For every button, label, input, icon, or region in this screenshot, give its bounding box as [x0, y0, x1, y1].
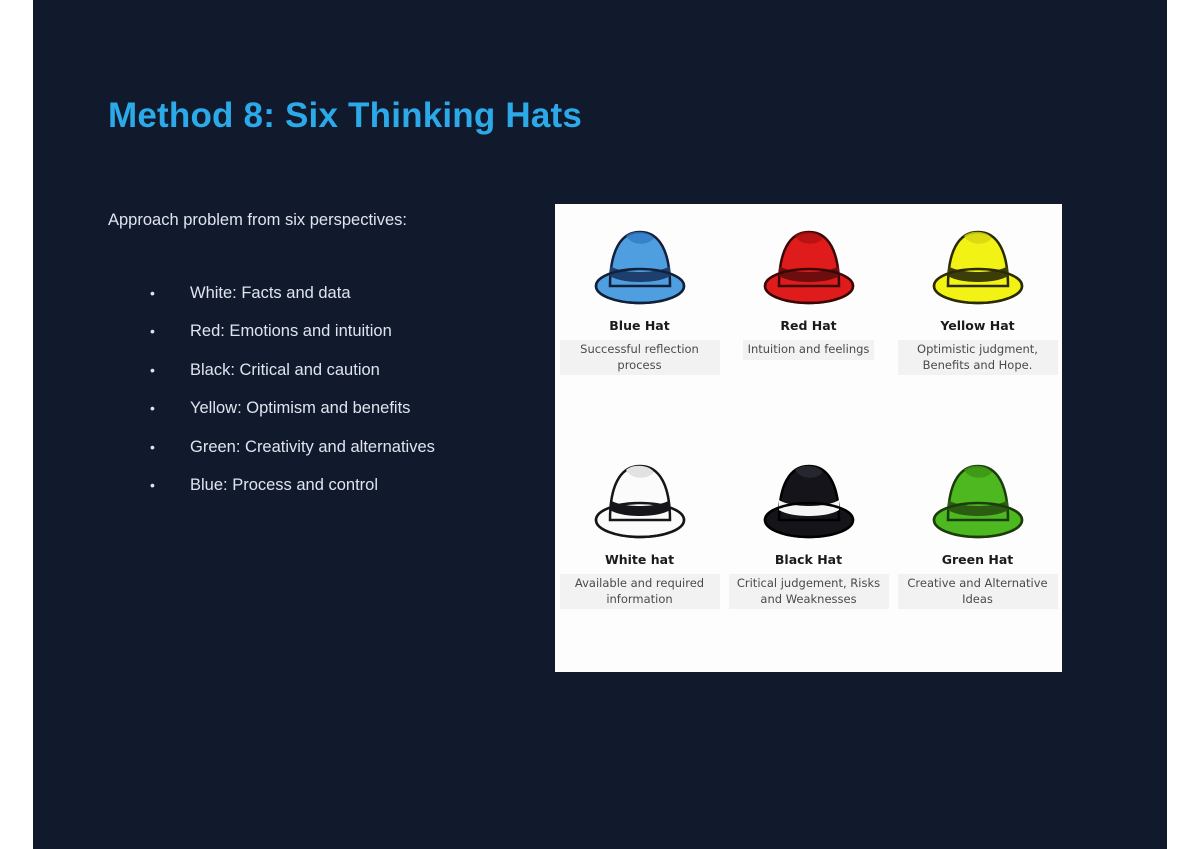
- hat-cell-green: Green Hat Creative and Alternative Ideas: [893, 438, 1062, 672]
- yellow-fedora-shape: [926, 216, 1030, 312]
- hat-name: White hat: [605, 552, 674, 567]
- hat-caption: Intuition and feelings: [743, 340, 875, 360]
- hat-caption: Successful reflection process: [560, 340, 720, 375]
- red-fedora-shape: [757, 216, 861, 312]
- hat-grid: Blue Hat Successful reflection process: [555, 204, 1062, 672]
- hat-name: Yellow Hat: [940, 318, 1014, 333]
- list-item: • White: Facts and data: [108, 274, 548, 312]
- six-hats-figure: Blue Hat Successful reflection process: [555, 204, 1062, 672]
- list-item-label: White: Facts and data: [190, 274, 351, 312]
- green-fedora-shape: [926, 450, 1030, 546]
- bullet-icon: •: [150, 274, 155, 312]
- list-item-label: Green: Creativity and alternatives: [190, 428, 435, 466]
- hat-name: Blue Hat: [609, 318, 669, 333]
- hat-name: Black Hat: [775, 552, 842, 567]
- slide-canvas: Method 8: Six Thinking Hats Approach pro…: [33, 0, 1167, 849]
- list-item: • Yellow: Optimism and benefits: [108, 389, 548, 427]
- yellow-fedora-icon: [926, 216, 1030, 312]
- green-fedora-icon: [926, 450, 1030, 546]
- bullet-icon: •: [150, 312, 155, 350]
- list-item: • Black: Critical and caution: [108, 351, 548, 389]
- blue-fedora-shape: [588, 216, 692, 312]
- hat-caption: Creative and Alternative Ideas: [898, 574, 1058, 609]
- list-item-label: Blue: Process and control: [190, 466, 378, 504]
- list-item: • Blue: Process and control: [108, 466, 548, 504]
- hat-caption: Optimistic judgment, Benefits and Hope.: [898, 340, 1058, 375]
- list-item: • Red: Emotions and intuition: [108, 312, 548, 350]
- hat-cell-yellow: Yellow Hat Optimistic judgment, Benefits…: [893, 204, 1062, 438]
- bullet-icon: •: [150, 428, 155, 466]
- bullet-icon: •: [150, 351, 155, 389]
- bullet-icon: •: [150, 389, 155, 427]
- list-item: • Green: Creativity and alternatives: [108, 428, 548, 466]
- hat-name: Green Hat: [942, 552, 1014, 567]
- bullet-icon: •: [150, 466, 155, 504]
- hat-cell-black: Black Hat Critical judgement, Risks and …: [724, 438, 893, 672]
- black-fedora-icon: [757, 450, 861, 546]
- red-fedora-icon: [757, 216, 861, 312]
- slide-page: Method 8: Six Thinking Hats Approach pro…: [0, 0, 1200, 849]
- white-fedora-icon: [588, 450, 692, 546]
- hat-caption: Available and required information: [560, 574, 720, 609]
- perspective-bullet-list: • White: Facts and data • Red: Emotions …: [108, 274, 548, 504]
- hat-cell-white: White hat Available and required informa…: [555, 438, 724, 672]
- white-fedora-shape: [588, 450, 692, 546]
- hat-cell-blue: Blue Hat Successful reflection process: [555, 204, 724, 438]
- hat-cell-red: Red Hat Intuition and feelings: [724, 204, 893, 438]
- black-fedora-shape: [757, 450, 861, 546]
- list-item-label: Yellow: Optimism and benefits: [190, 389, 410, 427]
- blue-fedora-icon: [588, 216, 692, 312]
- hat-caption: Critical judgement, Risks and Weaknesses: [729, 574, 889, 609]
- list-item-label: Black: Critical and caution: [190, 351, 380, 389]
- page-title: Method 8: Six Thinking Hats: [108, 96, 582, 136]
- list-item-label: Red: Emotions and intuition: [190, 312, 392, 350]
- hat-name: Red Hat: [780, 318, 836, 333]
- lead-paragraph: Approach problem from six perspectives:: [108, 211, 407, 230]
